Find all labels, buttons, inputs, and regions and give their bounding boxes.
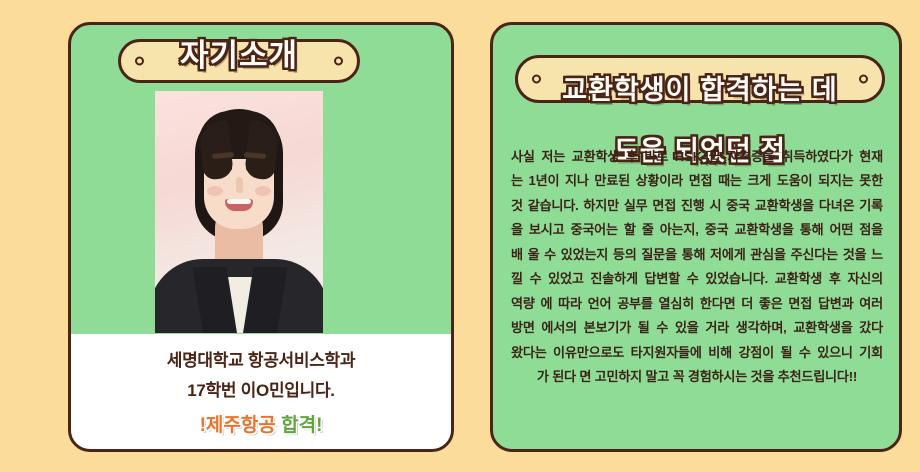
body-line: 는 1년이 지나 만료된 상황이라 면접 때는 크게 도움이 되지는 못한 (511, 169, 883, 193)
caption-result-badge: !제주항공 합격! (200, 410, 323, 437)
exchange-benefit-body: 사실 저는 교환학생 후 바로 HSK4급 자격증을 취득하였다가 현재 는 1… (511, 145, 883, 390)
body-line: 을 보시고 중국어는 할 줄 아는지, 중국 교환학생을 통해 어떤 점을 (511, 218, 883, 242)
photo-teeth (227, 199, 251, 204)
poster-stage: 자기소개 세명대학교 항공서비스학과 17학번 이O민입니다. (0, 0, 920, 472)
body-line: 배 울 수 있었는지 등의 질문을 통해 저에게 관심을 주신다는 것을 느 (511, 243, 883, 267)
body-line: 방면 에서의 본보기가 될 수 있을 거라 생각하며, 교환학생을 갔다 (511, 316, 883, 340)
badge-result: 합격 (281, 415, 316, 436)
pill-hole-left-icon (135, 57, 144, 66)
exchange-benefit-title-pill (515, 55, 885, 103)
caption-school-major: 세명대학교 항공서비스학과 (167, 346, 356, 371)
badge-suffix-mark: ! (316, 415, 322, 436)
body-line: 사실 저는 교환학생 후 바로 HSK4급 자격증을 취득하였다가 현재 (511, 145, 883, 169)
photo-nose (236, 177, 243, 193)
photo-eye-right (246, 164, 265, 173)
pill-hole-left-icon (532, 75, 541, 84)
photo-cheek-left (207, 186, 223, 196)
body-line: 낄 수 있었고 진솔하게 답변할 수 있었습니다. 교환학생 후 자신의 (511, 267, 883, 291)
photo-cheek-right (255, 186, 271, 196)
body-line: 왔다는 이유만으로도 타지원자들에 비해 강점이 될 수 있으니 기회 (511, 341, 883, 365)
applicant-caption: 세명대학교 항공서비스학과 17학번 이O민입니다. !제주항공 합격! (71, 334, 451, 449)
self-introduction-title-pill (118, 39, 360, 83)
body-line: 것 같습니다. 하지만 실무 면접 진행 시 중국 교환학생을 다녀온 기록 (511, 194, 883, 218)
self-introduction-card: 자기소개 세명대학교 항공서비스학과 17학번 이O민입니다. (68, 22, 454, 452)
body-line: 가 된다 면 고민하지 말고 꼭 경험하시는 것을 추천드립니다!! (511, 365, 883, 389)
exchange-benefit-card: 교환학생이 합격하는 데 도움 되었던 점 사실 저는 교환학생 후 바로 HS… (490, 22, 902, 452)
pill-hole-right-icon (334, 57, 343, 66)
caption-student-id-name: 17학번 이O민입니다. (187, 376, 334, 401)
pill-hole-right-icon (859, 75, 868, 84)
body-line: 역량 에 따라 언어 공부를 열심히 한다면 더 좋은 면접 답변과 여러 (511, 292, 883, 316)
photo-eye-left (213, 164, 232, 173)
applicant-id-photo (155, 91, 323, 333)
badge-company: 제주항공 (206, 415, 276, 436)
